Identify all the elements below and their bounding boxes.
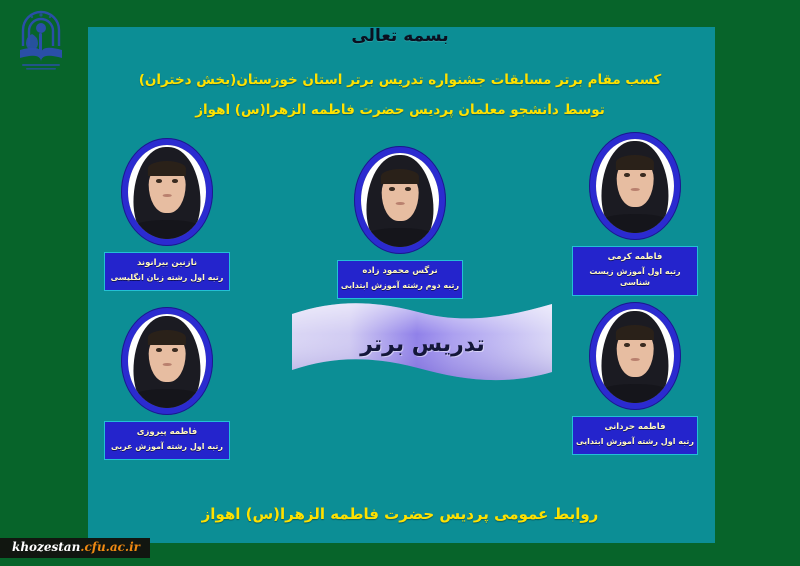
person-name-card: نرگس محمود زاده رتبه دوم رشته آموزش ابتد… <box>337 260 463 299</box>
portrait-image <box>128 145 206 239</box>
portrait-photo <box>589 132 681 240</box>
portrait-photo <box>121 138 213 246</box>
portrait-photo <box>121 307 213 415</box>
url-part-domain: khozestan <box>12 540 80 554</box>
person-name-card: نازنین بیرانوند رتبه اول رشته زبان انگلی… <box>104 252 230 291</box>
person-name: فاطمه حردانی <box>575 422 695 433</box>
bismillah-heading: بسمه تعالی <box>0 26 800 46</box>
person-card: فاطمه کرمی رتبه اول آموزش زیست شناسی <box>565 132 705 296</box>
portrait-image <box>361 153 439 247</box>
person-name: فاطمه پیروزی <box>107 427 227 438</box>
person-card: نازنین بیرانوند رتبه اول رشته زبان انگلی… <box>97 138 237 291</box>
person-rank: رتبه دوم رشته آموزش ابتدایی <box>340 281 460 292</box>
person-name: نازنین بیرانوند <box>107 258 227 269</box>
portrait-photo <box>354 146 446 254</box>
headline-line-2: توسط دانشجو معلمان پردیس حضرت فاطمه الزه… <box>0 102 800 118</box>
headline-line-1: کسب مقام برتر مسابقات جشنواره تدریس برتر… <box>0 72 800 88</box>
person-name-card: فاطمه پیروزی رتبه اول رشته آموزش عربی <box>104 421 230 460</box>
person-card: فاطمه پیروزی رتبه اول رشته آموزش عربی <box>97 307 237 460</box>
person-name: فاطمه کرمی <box>575 252 695 263</box>
person-card: فاطمه حردانی رتبه اول رشته آموزش ابتدایی <box>565 302 705 455</box>
url-part-suffix: .cfu.ac.ir <box>80 540 140 554</box>
person-name-card: فاطمه حردانی رتبه اول رشته آموزش ابتدایی <box>572 416 698 455</box>
footer-credit: روابط عمومی پردیس حضرت فاطمه الزهرا(س) ا… <box>0 505 800 523</box>
website-url-bar[interactable]: khozestan.cfu.ac.ir <box>0 538 150 558</box>
portrait-image <box>128 314 206 408</box>
portrait-photo <box>589 302 681 410</box>
poster-canvas: بسمه تعالی کسب مقام برتر مسابقات جشنواره… <box>0 0 800 566</box>
person-name: نرگس محمود زاده <box>340 266 460 277</box>
person-rank: رتبه اول رشته زبان انگلیسی <box>107 273 227 284</box>
portrait-image <box>596 309 674 403</box>
person-rank: رتبه اول آموزش زیست شناسی <box>575 267 695 289</box>
portrait-image <box>596 139 674 233</box>
person-name-card: فاطمه کرمی رتبه اول آموزش زیست شناسی <box>572 246 698 296</box>
person-rank: رتبه اول رشته آموزش عربی <box>107 442 227 453</box>
wavy-banner: تدریس برتر <box>290 298 555 390</box>
person-rank: رتبه اول رشته آموزش ابتدایی <box>575 437 695 448</box>
person-card: نرگس محمود زاده رتبه دوم رشته آموزش ابتد… <box>330 146 470 299</box>
